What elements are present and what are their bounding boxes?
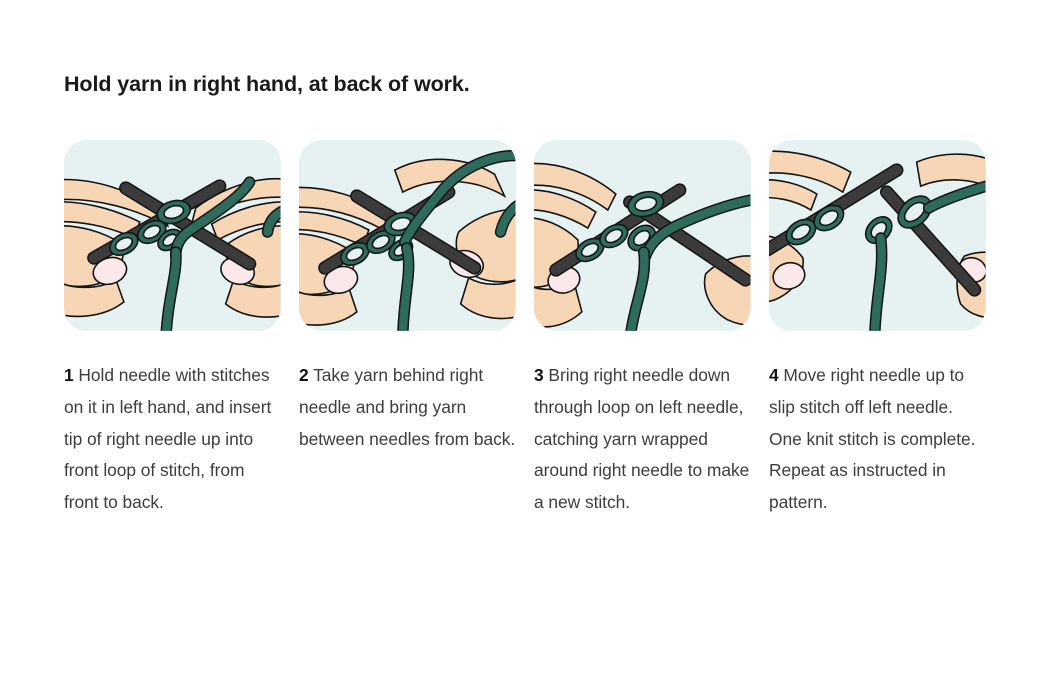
caption-row: 1 Hold needle with stitches on it in lef… [64, 360, 994, 519]
illustration-panel-step-3 [534, 140, 751, 331]
step-number-3: 3 [534, 365, 544, 385]
step-number-2: 2 [299, 365, 309, 385]
step-text-2: Take yarn behind right needle and bring … [299, 365, 515, 449]
instruction-page: Hold yarn in right hand, at back of work… [0, 0, 1050, 675]
step-text-4: Move right needle up to slip stitch off … [769, 365, 975, 512]
step-text-1: Hold needle with stitches on it in left … [64, 365, 271, 512]
page-title: Hold yarn in right hand, at back of work… [64, 72, 470, 97]
step-number-4: 4 [769, 365, 779, 385]
illustration-row [64, 140, 986, 331]
illustration-panel-step-1 [64, 140, 281, 331]
step-number-1: 1 [64, 365, 74, 385]
illustration-panel-step-2 [299, 140, 516, 331]
illustration-panel-step-4 [769, 140, 986, 331]
caption-step-2: 2 Take yarn behind right needle and brin… [299, 360, 516, 519]
caption-step-4: 4 Move right needle up to slip stitch of… [769, 360, 986, 519]
caption-step-1: 1 Hold needle with stitches on it in lef… [64, 360, 281, 519]
step-text-3: Bring right needle down through loop on … [534, 365, 749, 512]
caption-step-3: 3 Bring right needle down through loop o… [534, 360, 751, 519]
